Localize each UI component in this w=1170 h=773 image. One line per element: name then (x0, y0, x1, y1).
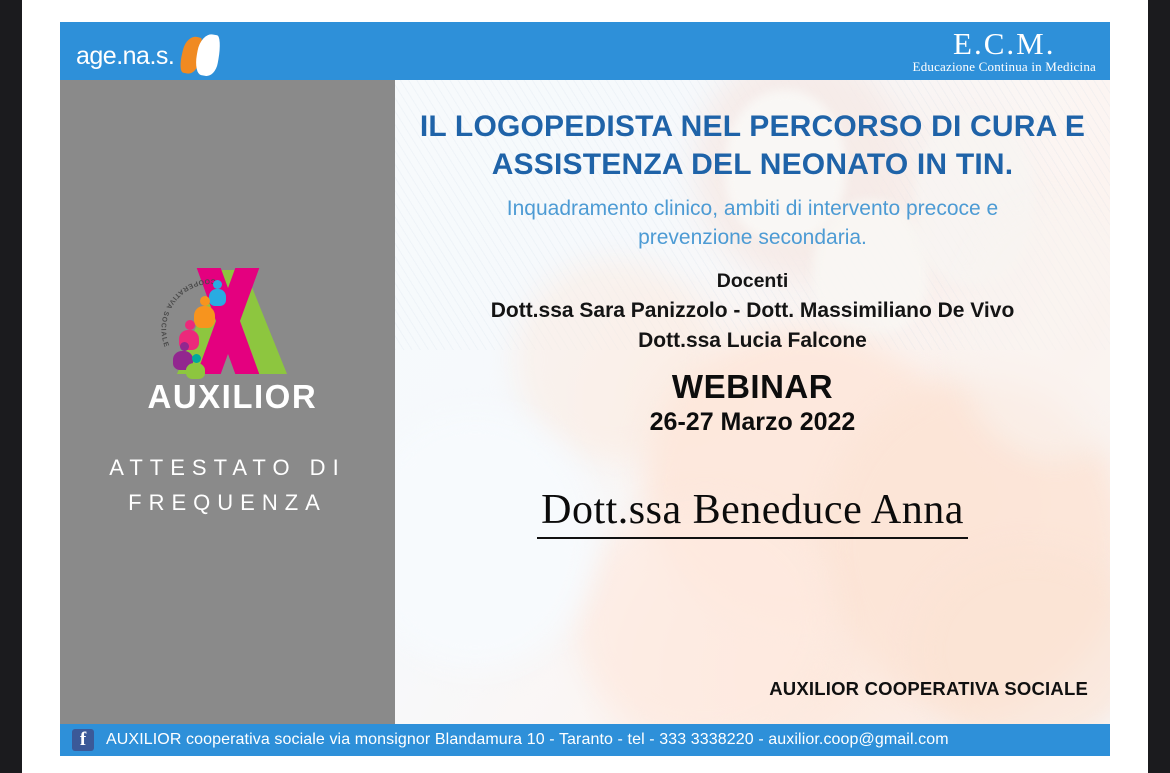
course-title-line-2: ASSISTENZA DEL NEONATO IN TIN. (413, 146, 1092, 184)
ecm-subtitle: Educazione Continua in Medicina (913, 59, 1096, 75)
event-block: WEBINAR 26-27 Marzo 2022 (395, 368, 1110, 437)
certificate-header-bar: age.na.s. E.C.M. Educazione Continua in … (60, 22, 1110, 80)
ecm-acronym: E.C.M. (913, 27, 1096, 61)
course-subtitle: Inquadramento clinico, ambiti di interve… (395, 194, 1110, 253)
event-format: WEBINAR (395, 368, 1110, 406)
recipient-name: Dott.ssa Beneduce Anna (537, 486, 968, 539)
auxilior-logo: COOPERATIVA SOCIALE (148, 266, 308, 416)
certificate-main-panel: IL LOGOPEDISTA NEL PERCORSO DI CURA E AS… (395, 80, 1110, 724)
teachers-line-2: Dott.ssa Lucia Falcone (395, 326, 1110, 356)
agenas-logo-label: age.na.s. (76, 42, 174, 71)
issuing-organization: AUXILIOR COOPERATIVA SOCIALE (769, 678, 1088, 700)
recipient-block: Dott.ssa Beneduce Anna (395, 486, 1110, 539)
agenas-logo: age.na.s. (76, 34, 224, 78)
certificate-document: age.na.s. E.C.M. Educazione Continua in … (60, 22, 1110, 756)
certificate-type-line-2: FREQUENZA (60, 485, 395, 520)
screenshot-root: age.na.s. E.C.M. Educazione Continua in … (0, 0, 1170, 773)
course-title: IL LOGOPEDISTA NEL PERCORSO DI CURA E AS… (395, 108, 1110, 185)
auxilior-wordmark: AUXILIOR (148, 378, 308, 416)
ecm-logo: E.C.M. Educazione Continua in Medicina (913, 27, 1096, 75)
agenas-swoosh-icon (180, 34, 224, 78)
certificate-sidebar: COOPERATIVA SOCIALE (60, 80, 395, 724)
event-dates: 26-27 Marzo 2022 (395, 408, 1110, 437)
certificate-type-line-1: ATTESTATO DI (60, 450, 395, 485)
footer-contact-text: AUXILIOR cooperativa sociale via monsign… (106, 731, 949, 749)
course-title-line-1: IL LOGOPEDISTA NEL PERCORSO DI CURA E (413, 108, 1092, 146)
course-subtitle-line-2: prevenzione secondaria. (435, 223, 1070, 252)
course-subtitle-line-1: Inquadramento clinico, ambiti di interve… (435, 194, 1070, 223)
teachers-block: Docenti Dott.ssa Sara Panizzolo - Dott. … (395, 268, 1110, 355)
auxilior-x-people-icon: COOPERATIVA SOCIALE (162, 266, 294, 376)
teachers-label: Docenti (395, 268, 1110, 296)
certificate-footer-bar: AUXILIOR cooperativa sociale via monsign… (60, 724, 1110, 756)
certificate-type-heading: ATTESTATO DI FREQUENZA (60, 450, 395, 520)
certificate-body: COOPERATIVA SOCIALE (60, 80, 1110, 724)
facebook-icon[interactable] (72, 729, 94, 751)
teachers-line-1: Dott.ssa Sara Panizzolo - Dott. Massimil… (395, 296, 1110, 326)
